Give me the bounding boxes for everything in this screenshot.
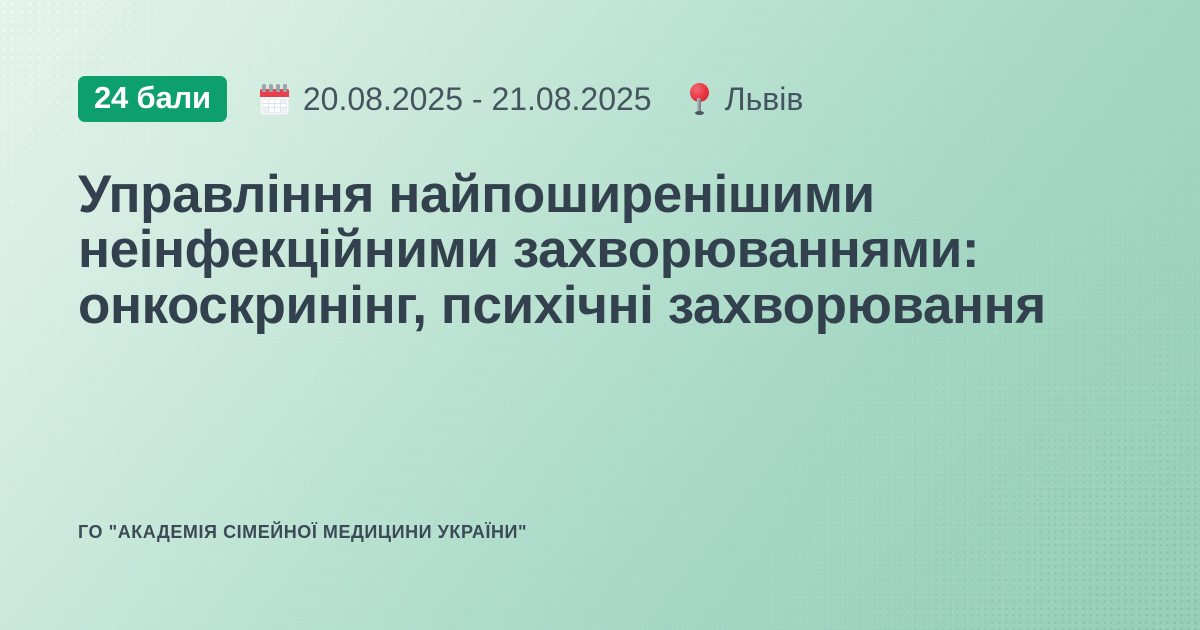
event-date: 20.08.2025 - 21.08.2025 (260, 81, 652, 118)
event-location-text: Львів (725, 81, 804, 118)
organizer-name: ГО "АКАДЕМІЯ СІМЕЙНОЇ МЕДИЦИНИ УКРАЇНИ" (78, 522, 527, 543)
event-title-line-3: онкоскринінг, психічні захворювання (78, 278, 1122, 333)
event-title: Управління найпоширенішими неінфекційним… (78, 167, 1122, 333)
event-card: 24 бали 20.08.2025 - 21.08.2025 (0, 0, 1200, 630)
event-title-line-2: неінфекційними захворюваннями: (78, 222, 1122, 277)
credit-points-badge: 24 бали (78, 76, 227, 122)
calendar-icon (260, 84, 289, 115)
map-pin-icon (689, 83, 711, 116)
event-meta-row: 24 бали 20.08.2025 - 21.08.2025 (78, 73, 1122, 125)
event-location: Львів (689, 81, 804, 118)
event-date-text: 20.08.2025 - 21.08.2025 (303, 81, 652, 118)
event-title-line-1: Управління найпоширенішими (78, 167, 1122, 222)
